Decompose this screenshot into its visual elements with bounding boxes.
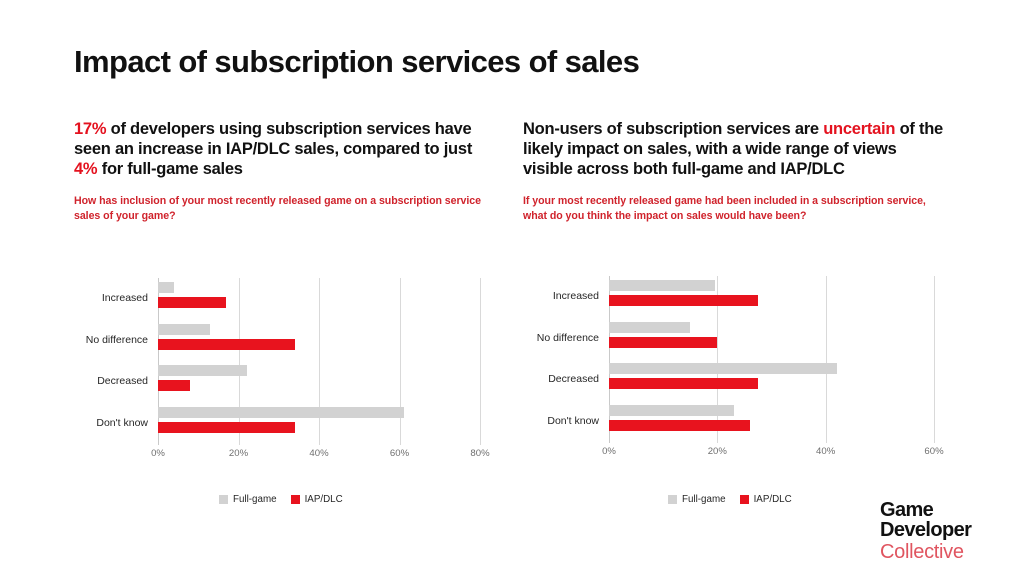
left-chart: IncreasedNo differenceDecreasedDon't kno… bbox=[74, 278, 494, 463]
left-headline-text-1: of developers using subscription service… bbox=[74, 120, 472, 158]
left-category-label-2: Decreased bbox=[97, 375, 148, 387]
right-legend-item-1[interactable]: IAP/DLC bbox=[740, 494, 792, 505]
right-bar-group-3: Don't know bbox=[609, 405, 934, 437]
logo-line-developer: Developer bbox=[880, 520, 971, 540]
right-bar-iap-dlc-2 bbox=[609, 378, 758, 389]
left-bar-iap-dlc-3 bbox=[158, 422, 295, 433]
right-bar-group-0: Increased bbox=[609, 280, 934, 312]
left-bar-full-game-0 bbox=[158, 282, 174, 293]
left-category-label-1: No difference bbox=[86, 334, 148, 346]
left-bar-group-0: Increased bbox=[158, 282, 480, 314]
right-xtick-0: 0% bbox=[602, 446, 616, 457]
right-legend-label-0: Full-game bbox=[682, 494, 726, 505]
right-bar-iap-dlc-1 bbox=[609, 337, 717, 348]
square-swatch-icon bbox=[740, 495, 749, 504]
left-legend-item-0[interactable]: Full-game bbox=[219, 494, 277, 505]
left-bar-group-1: No difference bbox=[158, 324, 480, 356]
right-panel: Non-users of subscription services are u… bbox=[523, 120, 943, 224]
right-chart: IncreasedNo differenceDecreasedDon't kno… bbox=[523, 276, 943, 461]
brand-logo: Game Developer Collective bbox=[880, 500, 971, 562]
right-xtick-60: 60% bbox=[924, 446, 943, 457]
left-bar-iap-dlc-2 bbox=[158, 380, 190, 391]
left-xtick-20: 20% bbox=[229, 448, 248, 459]
left-bar-full-game-2 bbox=[158, 365, 247, 376]
left-headline-stat-2: 4% bbox=[74, 160, 97, 178]
left-bar-full-game-1 bbox=[158, 324, 210, 335]
right-chart-bar-rows: IncreasedNo differenceDecreasedDon't kno… bbox=[609, 276, 934, 443]
right-bar-full-game-2 bbox=[609, 363, 837, 374]
left-bar-group-2: Decreased bbox=[158, 365, 480, 397]
right-category-label-1: No difference bbox=[537, 332, 599, 344]
right-xtick-20: 20% bbox=[708, 446, 727, 457]
right-category-label-3: Don't know bbox=[547, 415, 599, 427]
logo-line-collective: Collective bbox=[880, 542, 971, 562]
right-bar-iap-dlc-3 bbox=[609, 420, 750, 431]
left-legend-label-0: Full-game bbox=[233, 494, 277, 505]
right-bar-iap-dlc-0 bbox=[609, 295, 758, 306]
right-bar-group-2: Decreased bbox=[609, 363, 934, 395]
left-legend-label-1: IAP/DLC bbox=[305, 494, 343, 505]
left-xtick-0: 0% bbox=[151, 448, 165, 459]
left-xtick-40: 40% bbox=[309, 448, 328, 459]
logo-line-game: Game bbox=[880, 500, 971, 520]
left-category-label-3: Don't know bbox=[96, 417, 148, 429]
right-xtick-40: 40% bbox=[816, 446, 835, 457]
left-xtick-60: 60% bbox=[390, 448, 409, 459]
left-chart-bar-rows: IncreasedNo differenceDecreasedDon't kno… bbox=[158, 278, 480, 445]
left-chart-x-axis: 0%20%40%60%80% bbox=[158, 445, 480, 463]
left-gridline-80 bbox=[480, 278, 481, 445]
right-bar-full-game-1 bbox=[609, 322, 690, 333]
left-bar-iap-dlc-1 bbox=[158, 339, 295, 350]
square-swatch-icon bbox=[219, 495, 228, 504]
right-chart-x-axis: 0%20%40%60% bbox=[609, 443, 934, 461]
left-chart-legend: Full-gameIAP/DLC bbox=[219, 494, 343, 505]
right-question-text: If your most recently released game had … bbox=[523, 194, 943, 224]
page-title: Impact of subscription services of sales bbox=[74, 44, 639, 80]
right-category-label-2: Decreased bbox=[548, 373, 599, 385]
left-headline: 17% of developers using subscription ser… bbox=[74, 120, 494, 180]
left-bar-full-game-3 bbox=[158, 407, 404, 418]
right-bar-full-game-3 bbox=[609, 405, 734, 416]
right-bar-full-game-0 bbox=[609, 280, 715, 291]
left-headline-text-2: for full-game sales bbox=[97, 160, 242, 178]
right-chart-plot-area: IncreasedNo differenceDecreasedDon't kno… bbox=[609, 276, 934, 461]
right-headline-text-1: Non-users of subscription services are bbox=[523, 120, 823, 138]
right-legend-label-1: IAP/DLC bbox=[754, 494, 792, 505]
right-headline-emphasis: uncertain bbox=[823, 120, 895, 138]
right-chart-legend: Full-gameIAP/DLC bbox=[668, 494, 792, 505]
left-headline-stat-1: 17% bbox=[74, 120, 106, 138]
right-gridline-60 bbox=[934, 276, 935, 443]
left-legend-item-1[interactable]: IAP/DLC bbox=[291, 494, 343, 505]
right-bar-group-1: No difference bbox=[609, 322, 934, 354]
square-swatch-icon bbox=[291, 495, 300, 504]
left-question-text: How has inclusion of your most recently … bbox=[74, 194, 494, 224]
left-bar-group-3: Don't know bbox=[158, 407, 480, 439]
left-category-label-0: Increased bbox=[102, 292, 148, 304]
right-headline: Non-users of subscription services are u… bbox=[523, 120, 943, 180]
left-chart-plot-area: IncreasedNo differenceDecreasedDon't kno… bbox=[158, 278, 480, 463]
square-swatch-icon bbox=[668, 495, 677, 504]
right-legend-item-0[interactable]: Full-game bbox=[668, 494, 726, 505]
left-panel: 17% of developers using subscription ser… bbox=[74, 120, 494, 224]
right-category-label-0: Increased bbox=[553, 290, 599, 302]
left-bar-iap-dlc-0 bbox=[158, 297, 226, 308]
left-xtick-80: 80% bbox=[470, 448, 489, 459]
